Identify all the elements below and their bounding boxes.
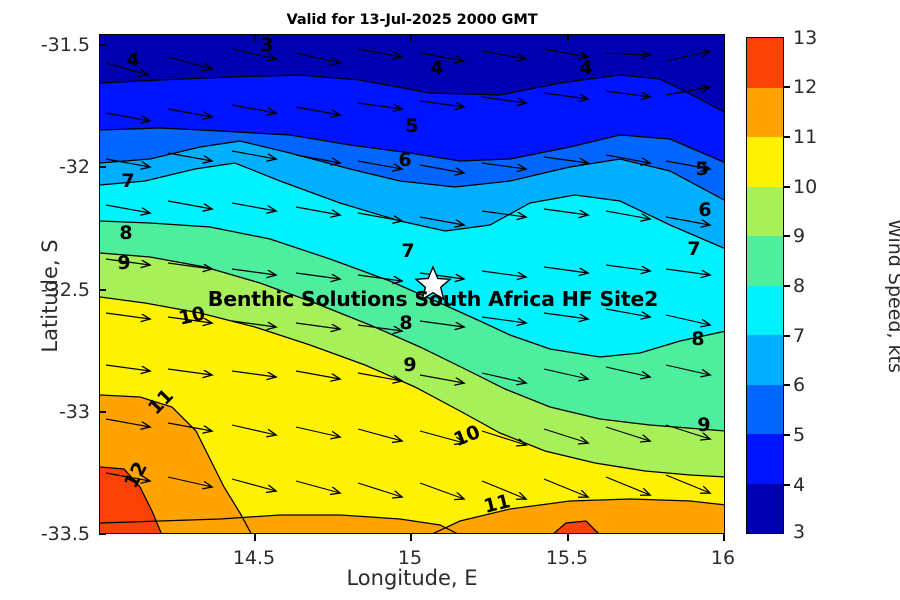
- colorbar-segment: [747, 187, 783, 237]
- contour-label: 6: [698, 199, 711, 221]
- colorbar-tick: [784, 186, 790, 188]
- x-tick: [723, 534, 725, 541]
- y-tick-label: -32: [0, 156, 90, 178]
- colorbar-tick: [784, 285, 790, 287]
- colorbar-tick: [784, 384, 790, 386]
- x-tick: [410, 534, 412, 541]
- colorbar-segment: [747, 434, 783, 484]
- colorbar-segment: [747, 484, 783, 534]
- contour-label: 9: [117, 252, 130, 274]
- colorbar-tick: [784, 335, 790, 337]
- contour-label: 4: [126, 49, 139, 71]
- colorbar-segment: [747, 286, 783, 336]
- y-tick-label: -33.5: [0, 523, 90, 545]
- y-tick: [99, 533, 106, 535]
- contour-label: 6: [398, 149, 411, 171]
- filled-contour-bands: [100, 35, 725, 534]
- x-tick: [410, 34, 412, 41]
- contour-label: 5: [405, 115, 418, 137]
- colorbar-tick: [784, 484, 790, 486]
- colorbar-segment: [747, 137, 783, 187]
- x-tick: [567, 534, 569, 541]
- colorbar-tick-label: 3: [793, 521, 805, 543]
- x-tick: [254, 534, 256, 541]
- contour-plot-canvas: [100, 35, 725, 534]
- colorbar-tick-label: 4: [793, 474, 805, 496]
- colorbar-tick: [784, 136, 790, 138]
- contour-label: 3: [260, 34, 273, 56]
- colorbar-segment: [747, 38, 783, 88]
- page-title: Valid for 13-Jul-2025 2000 GMT: [99, 12, 725, 28]
- contour-label: 8: [691, 328, 704, 350]
- colorbar-segment: [747, 88, 783, 138]
- y-axis-label: Latitude, S: [38, 186, 62, 406]
- contour-label: 7: [401, 240, 414, 262]
- contour-label: 7: [687, 238, 700, 260]
- colorbar-tick-label: 13: [793, 27, 817, 49]
- y-tick: [99, 411, 106, 413]
- colorbar-tick: [784, 235, 790, 237]
- colorbar-segment: [747, 385, 783, 435]
- contour-label: 7: [121, 170, 134, 192]
- colorbar-tick-label: 12: [793, 76, 817, 98]
- contour-label: 4: [579, 57, 592, 79]
- y-tick: [99, 289, 106, 291]
- contour-label: 9: [403, 354, 416, 376]
- contour-plot[interactable]: 3 4 4 4 5 5 6 6 7 7 7 8 8 8 9 9 9 10 10 …: [99, 34, 725, 534]
- colorbar-tick-label: 5: [793, 424, 805, 446]
- colorbar-tick-label: 7: [793, 325, 805, 347]
- contour-label: 5: [695, 158, 708, 180]
- y-tick-label: -31.5: [0, 34, 90, 56]
- site-label: Benthic Solutions South Africa HF Site2: [208, 287, 658, 311]
- x-axis-label: Longitude, E: [99, 566, 725, 590]
- contour-label: 4: [430, 57, 443, 79]
- colorbar-tick-label: 10: [793, 176, 817, 198]
- y-tick: [99, 166, 106, 168]
- colorbar-tick-label: 8: [793, 275, 805, 297]
- contour-label: 9: [697, 414, 710, 436]
- y-tick: [99, 44, 106, 46]
- colorbar-segment: [747, 236, 783, 286]
- colorbar-axis-label: Wind Speed, kts: [884, 146, 900, 446]
- colorbar-tick: [784, 434, 790, 436]
- colorbar-tick: [784, 86, 790, 88]
- colorbar-segment: [747, 335, 783, 385]
- contour-label: 8: [399, 312, 412, 334]
- colorbar-tick-label: 6: [793, 374, 805, 396]
- colorbar-tick-label: 11: [793, 126, 817, 148]
- colorbar[interactable]: [746, 37, 784, 534]
- contour-label: 8: [119, 222, 132, 244]
- x-tick: [567, 34, 569, 41]
- colorbar-tick-label: 9: [793, 225, 805, 247]
- x-tick: [254, 34, 256, 41]
